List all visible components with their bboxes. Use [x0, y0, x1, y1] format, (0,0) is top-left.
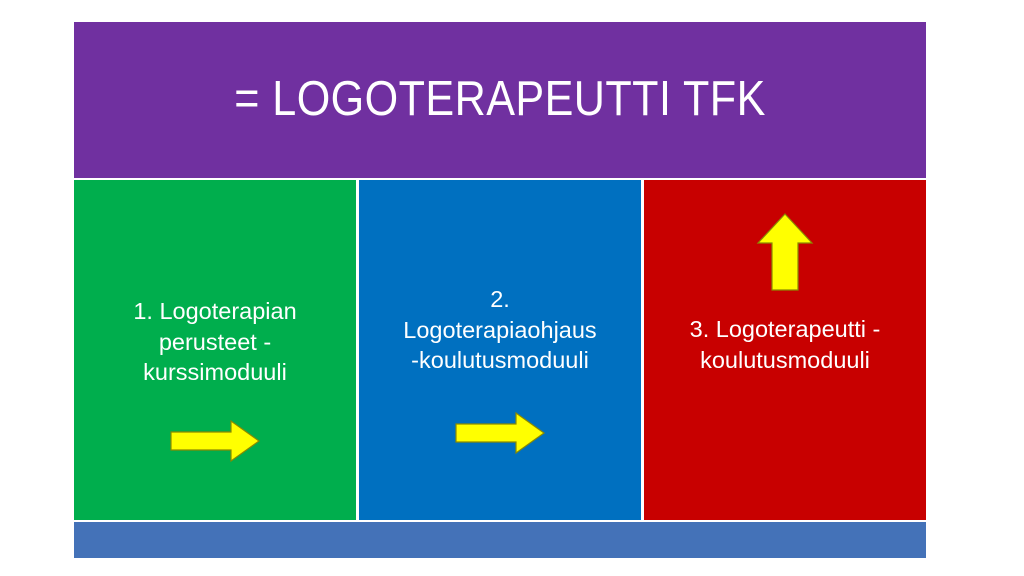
module-box-3[interactable]: 3. Logoterapeutti - koulutusmoduuli — [644, 180, 926, 520]
modules-row: 1. Logoterapian perusteet - kurssimoduul… — [74, 180, 926, 520]
module-label-1: 1. Logoterapian perusteet - kurssimoduul… — [74, 296, 356, 388]
header-banner: = LOGOTERAPEUTTI TFK — [74, 22, 926, 178]
module-label-3: 3. Logoterapeutti - koulutusmoduuli — [644, 314, 926, 375]
module-box-2[interactable]: 2. Logoterapiaohjaus -koulutusmoduuli — [359, 180, 641, 520]
arrow-right-wrap-2 — [454, 410, 546, 456]
slide-canvas: = LOGOTERAPEUTTI TFK 1. Logoterapian per… — [0, 0, 1024, 576]
page-title: = LOGOTERAPEUTTI TFK — [234, 74, 766, 125]
arrow-right-icon — [169, 418, 261, 464]
arrow-right-wrap-1 — [169, 418, 261, 464]
module-label-2: 2. Logoterapiaohjaus -koulutusmoduuli — [359, 284, 641, 376]
arrow-up-icon — [756, 212, 814, 292]
bottom-accent-bar — [74, 522, 926, 558]
module-box-1[interactable]: 1. Logoterapian perusteet - kurssimoduul… — [74, 180, 356, 520]
arrow-up-wrap-3 — [756, 212, 814, 292]
arrow-right-icon — [454, 410, 546, 456]
